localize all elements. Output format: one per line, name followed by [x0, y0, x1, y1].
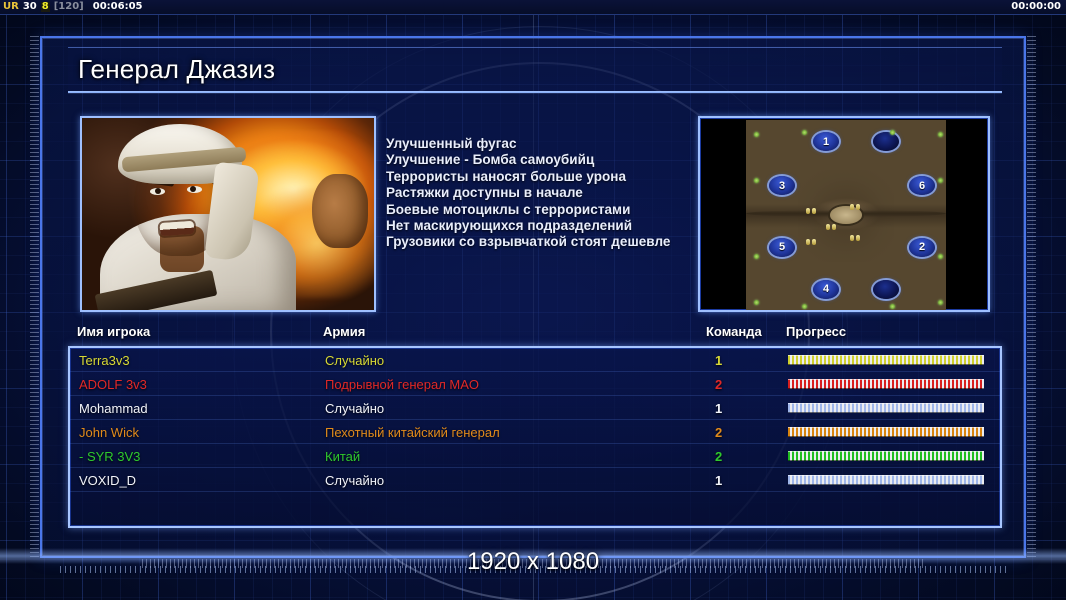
progress-bar	[788, 475, 984, 485]
ability-line: Растяжки доступны в начале	[386, 185, 718, 201]
hud-performance-group: UR 30 8 [120] 00:06:05	[0, 2, 142, 12]
map-supply-dot	[938, 132, 943, 137]
progress-bar	[788, 427, 984, 437]
map-start-position[interactable]: 3	[769, 176, 795, 195]
ability-line: Улучшение - Бомба самоубийц	[386, 152, 718, 168]
player-progress	[788, 355, 984, 365]
player-row[interactable]: John WickПехотный китайский генерал2	[70, 420, 1000, 444]
page-title: Генерал Джазиз	[68, 54, 275, 85]
player-team: 1	[715, 401, 722, 416]
map-supply-dot	[754, 254, 759, 259]
map-resource-dot	[806, 239, 810, 245]
hud-topbar: UR 30 8 [120] 00:06:05 00:00:00	[0, 0, 1066, 15]
map-supply-dot	[754, 300, 759, 305]
progress-bar	[788, 451, 984, 461]
panel-ruler-left	[30, 36, 39, 558]
progress-bar	[788, 403, 984, 413]
player-army: Случайно	[325, 401, 384, 416]
hud-elapsed-timer: 00:06:05	[93, 2, 143, 12]
map-resource-dot	[812, 239, 816, 245]
map-supply-dot	[890, 130, 895, 135]
panel-ruler-right	[1027, 36, 1036, 558]
map-supply-dot	[938, 300, 943, 305]
title-underglow	[68, 91, 1002, 94]
hud-clock: 00:00:00	[1011, 2, 1066, 12]
progress-bar	[788, 379, 984, 389]
map-supply-dot	[802, 304, 807, 309]
player-team: 2	[715, 377, 722, 392]
hud-ur-label: UR	[3, 2, 19, 12]
player-table: Terra3v3Случайно1ADOLF 3v3Подрывной гене…	[68, 346, 1002, 528]
player-name: Terra3v3	[79, 353, 130, 368]
map-resource-dot	[826, 224, 830, 230]
map-start-position-empty[interactable]	[873, 132, 899, 151]
player-name: ADOLF 3v3	[79, 377, 147, 392]
map-supply-dot	[754, 132, 759, 137]
general-ability-list: Улучшенный фугасУлучшение - Бомба самоуб…	[386, 136, 718, 251]
map-start-position[interactable]: 6	[909, 176, 935, 195]
map-resource-dot	[850, 235, 854, 241]
game-lobby-screen: UR 30 8 [120] 00:06:05 00:00:00 Генерал …	[0, 0, 1066, 600]
player-army: Пехотный китайский генерал	[325, 425, 500, 440]
player-army: Китай	[325, 449, 360, 464]
hud-fps-value: 30	[23, 2, 37, 12]
map-supply-dot	[938, 178, 943, 183]
resolution-label: 1920 x 1080	[0, 548, 1066, 576]
player-team: 2	[715, 425, 722, 440]
player-name: VOXID_D	[79, 473, 136, 488]
portrait-artwork	[82, 118, 374, 310]
ability-line: Нет маскирующихся подразделений	[386, 218, 718, 234]
player-team: 2	[715, 449, 722, 464]
player-table-header: Имя игрока Армия Команда Прогресс	[68, 324, 1002, 346]
map-supply-dot	[802, 130, 807, 135]
progress-bar	[788, 355, 984, 365]
player-name: - SYR 3V3	[79, 449, 140, 464]
map-supply-dot	[890, 304, 895, 309]
title-band: Генерал Джазиз	[68, 47, 1002, 93]
player-row[interactable]: Terra3v3Случайно1	[70, 348, 1000, 372]
map-start-position[interactable]: 1	[813, 132, 839, 151]
row-divider	[70, 491, 1000, 492]
player-name: Mohammad	[79, 401, 148, 416]
column-header-team: Команда	[706, 324, 762, 339]
column-header-name: Имя игрока	[77, 324, 150, 339]
map-terrain: 136524	[746, 120, 946, 312]
player-progress	[788, 427, 984, 437]
player-progress	[788, 475, 984, 485]
map-supply-dot	[754, 178, 759, 183]
general-portrait	[80, 116, 376, 312]
player-army: Подрывной генерал MAO	[325, 377, 479, 392]
map-resource-dot	[812, 208, 816, 214]
player-progress	[788, 403, 984, 413]
player-row[interactable]: MohammadСлучайно1	[70, 396, 1000, 420]
ability-line: Улучшенный фугас	[386, 136, 718, 152]
map-start-position[interactable]: 4	[813, 280, 839, 299]
player-army: Случайно	[325, 473, 384, 488]
map-preview-box: 136524	[698, 116, 990, 312]
player-progress	[788, 379, 984, 389]
player-army: Случайно	[325, 353, 384, 368]
map-supply-dot	[938, 254, 943, 259]
player-progress	[788, 451, 984, 461]
map-start-position-empty[interactable]	[873, 280, 899, 299]
column-header-army: Армия	[323, 324, 365, 339]
ability-line: Террористы наносят больше урона	[386, 169, 718, 185]
ability-line: Боевые мотоциклы с террористами	[386, 202, 718, 218]
main-panel: Генерал Джазиз	[40, 36, 1026, 558]
map-resource-dot	[832, 224, 836, 230]
map-resource-dot	[806, 208, 810, 214]
map-start-position[interactable]: 5	[769, 238, 795, 257]
general-info-row: Улучшенный фугасУлучшение - Бомба самоуб…	[68, 110, 1002, 316]
player-team: 1	[715, 473, 722, 488]
player-row[interactable]: VOXID_DСлучайно1	[70, 468, 1000, 492]
player-team: 1	[715, 353, 722, 368]
map-resource-dot	[856, 235, 860, 241]
column-header-progress: Прогресс	[786, 324, 846, 339]
ability-line: Грузовики со взрывчаткой стоят дешевле	[386, 234, 718, 250]
map-start-position[interactable]: 2	[909, 238, 935, 257]
player-name: John Wick	[79, 425, 139, 440]
portrait-hand	[312, 174, 368, 248]
player-row[interactable]: - SYR 3V3Китай2	[70, 444, 1000, 468]
player-row[interactable]: ADOLF 3v3Подрывной генерал MAO2	[70, 372, 1000, 396]
hud-frame-budget: [120]	[54, 2, 84, 12]
hud-fps-min-value: 8	[41, 2, 50, 12]
